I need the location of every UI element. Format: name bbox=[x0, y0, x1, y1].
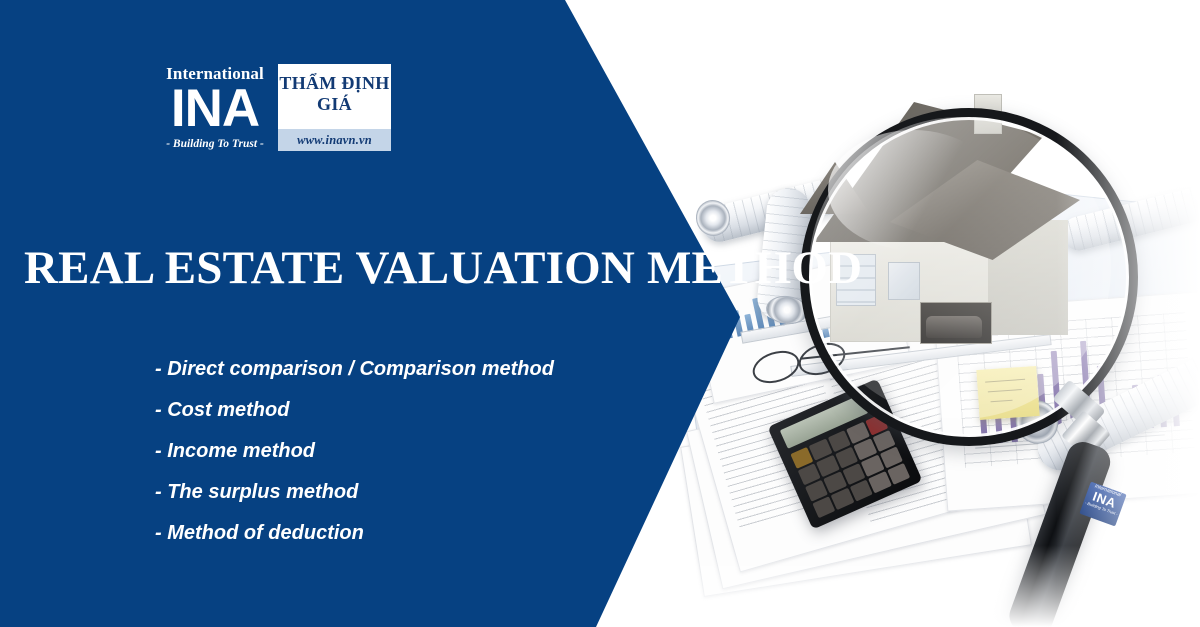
list-item: - The surplus method bbox=[155, 481, 554, 503]
list-item: - Income method bbox=[155, 440, 554, 462]
logo-brand-text: INA bbox=[171, 82, 259, 135]
list-item: - Cost method bbox=[155, 399, 554, 421]
valuation-method-list: - Direct comparison / Comparison method … bbox=[155, 358, 554, 563]
page-title: REAL ESTATE VALUATION METHOD bbox=[24, 243, 862, 293]
logo-vn-line1: THẨM ĐỊNH bbox=[278, 73, 391, 94]
ina-logo: International INA - Building To Trust - … bbox=[162, 64, 391, 151]
ina-logo-vn-box: THẨM ĐỊNH GIÁ www.inavn.vn bbox=[278, 64, 391, 151]
list-item: - Method of deduction bbox=[155, 522, 554, 544]
list-item: - Direct comparison / Comparison method bbox=[155, 358, 554, 380]
logo-vn-line2: GIÁ bbox=[278, 94, 391, 115]
ina-logo-wordmark: International INA - Building To Trust - bbox=[162, 64, 268, 151]
banner: International INA - Building To Trust - … bbox=[0, 0, 1200, 627]
logo-tagline-text: - Building To Trust - bbox=[166, 137, 264, 151]
logo-website-url: www.inavn.vn bbox=[278, 129, 391, 151]
